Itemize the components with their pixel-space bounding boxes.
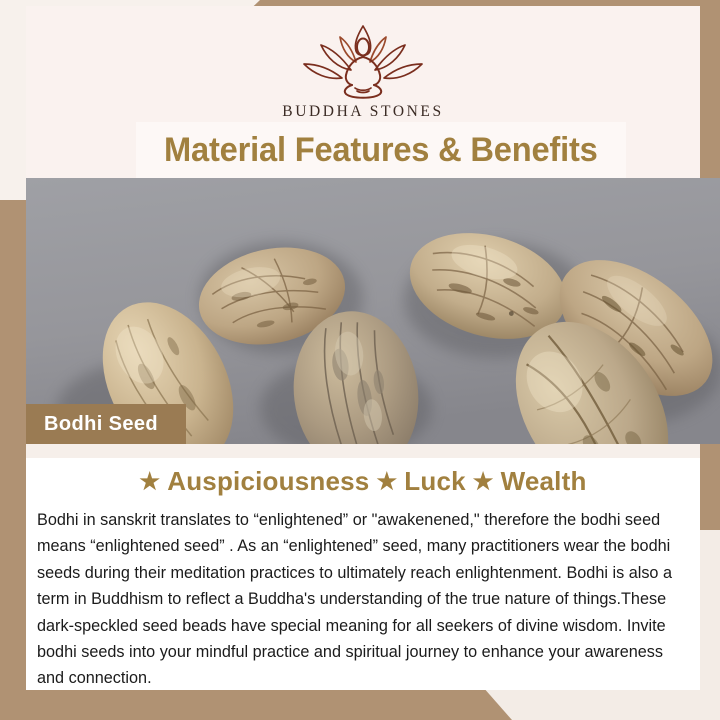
benefit-label-3: Wealth xyxy=(501,466,587,496)
benefit-label-2: Luck xyxy=(404,466,465,496)
benefit-label-1: Auspiciousness xyxy=(167,466,369,496)
content-panel: ★Auspiciousness★Luck★Wealth Bodhi in san… xyxy=(26,458,700,690)
lotus-meditation-figure-icon xyxy=(290,20,436,100)
benefits-heading: ★Auspiciousness★Luck★Wealth xyxy=(26,466,700,497)
seed-label-text: Bodhi Seed xyxy=(44,413,158,436)
seed-label-badge: Bodhi Seed xyxy=(26,404,186,444)
header: BUDDHA STONES Material Features & Benefi… xyxy=(26,6,700,178)
infographic-page: BUDDHA STONES Material Features & Benefi… xyxy=(0,0,720,720)
star-icon-2: ★ xyxy=(376,468,397,494)
photo-content-separator xyxy=(26,444,700,458)
brand-name: BUDDHA STONES xyxy=(282,103,443,121)
brand-logo: BUDDHA STONES xyxy=(26,20,700,121)
star-icon-1: ★ xyxy=(139,468,160,494)
page-title-band: Material Features & Benefits xyxy=(136,122,626,178)
frame-edge-right-bottom xyxy=(700,530,720,720)
star-icon-3: ★ xyxy=(473,468,494,494)
description-text: Bodhi in sanskrit translates to “enlight… xyxy=(37,507,678,692)
page-title: Material Features & Benefits xyxy=(164,131,598,170)
frame-edge-left-top xyxy=(0,0,26,200)
